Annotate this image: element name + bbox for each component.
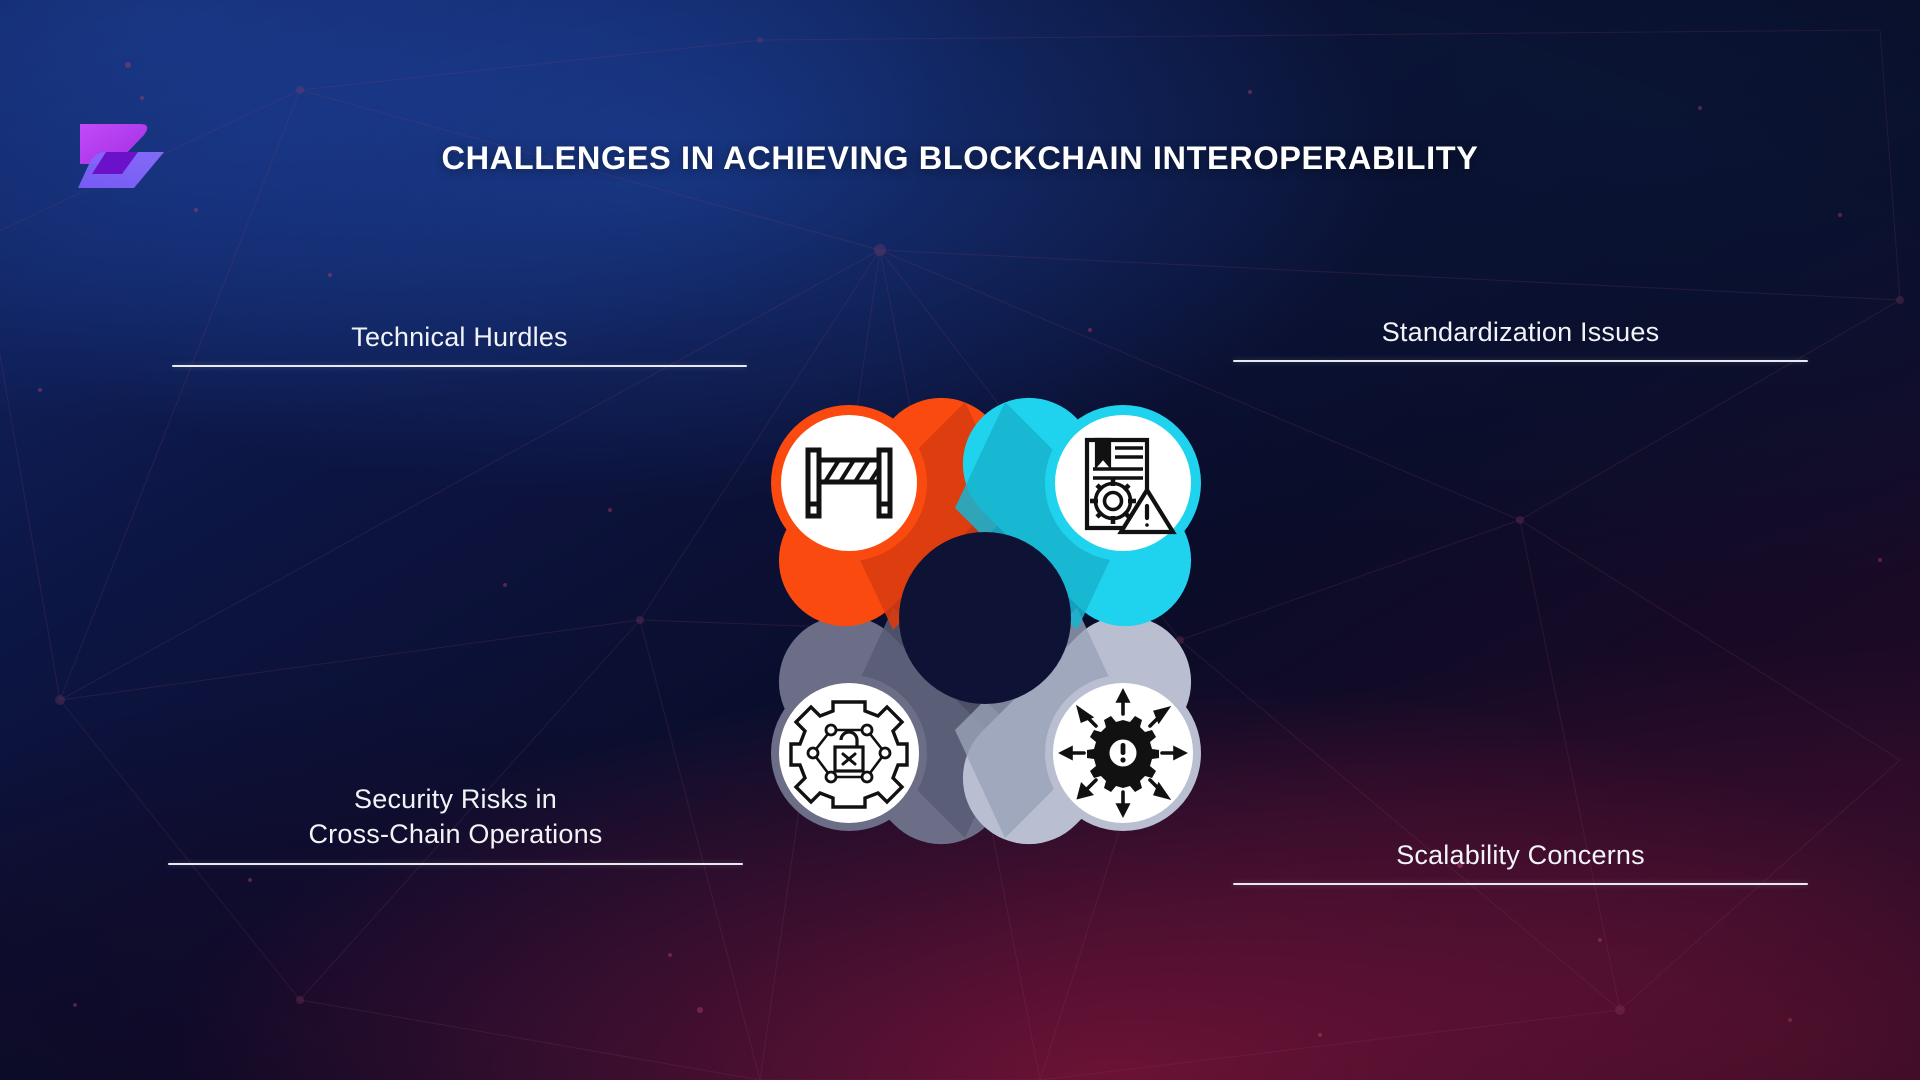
- quadrant-label-security-risks-cross-chain: Security Risks in Cross-Chain Operations: [168, 782, 743, 865]
- quadrant-label-scalability-concerns: Scalability Concerns: [1233, 838, 1808, 885]
- icon-badge-technical-hurdles[interactable]: [771, 405, 927, 561]
- quadrant-label-text: Security Risks in Cross-Chain Operations: [168, 782, 743, 851]
- icon-badge-standardization-issues[interactable]: [1045, 405, 1201, 561]
- quadrant-label-standardization-issues: Standardization Issues: [1233, 315, 1808, 362]
- label-underline: [172, 365, 747, 367]
- slide-canvas: CHALLENGES IN ACHIEVING BLOCKCHAIN INTER…: [0, 0, 1920, 1080]
- quadrant-label-technical-hurdles: Technical Hurdles: [172, 320, 747, 367]
- label-underline: [168, 863, 743, 865]
- label-underline: [1233, 360, 1808, 362]
- page-title: CHALLENGES IN ACHIEVING BLOCKCHAIN INTER…: [0, 140, 1920, 177]
- quadrant-label-text: Scalability Concerns: [1233, 838, 1808, 873]
- center-hub: [899, 532, 1071, 704]
- icon-badge-scalability-concerns[interactable]: [1045, 675, 1201, 831]
- quadrant-label-text: Standardization Issues: [1233, 315, 1808, 350]
- center-x-diagram: [735, 368, 1235, 868]
- gear-alert-expand-arrows-icon: [1062, 692, 1184, 814]
- icon-badge-security-risks[interactable]: [771, 675, 927, 831]
- label-underline: [1233, 883, 1808, 885]
- quadrant-label-text: Technical Hurdles: [172, 320, 747, 355]
